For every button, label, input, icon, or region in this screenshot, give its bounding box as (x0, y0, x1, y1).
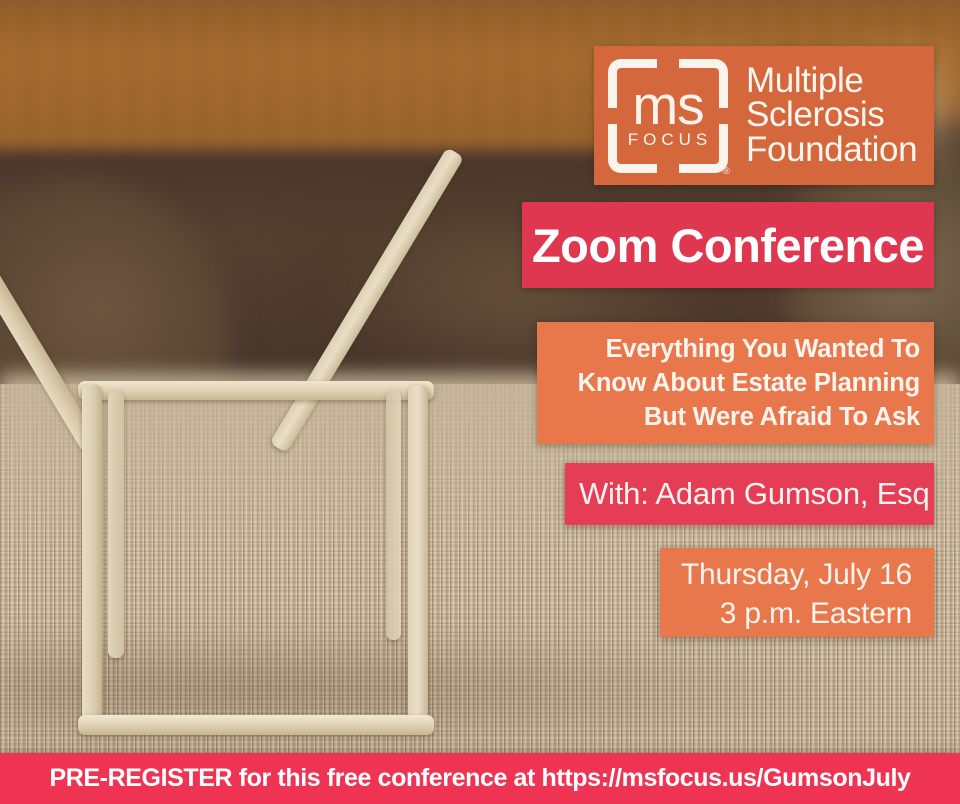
event-type-label: Zoom Conference (532, 218, 924, 273)
ms-focus-logo-block: ms FOCUS ® Multiple Sclerosis Foundation (594, 46, 934, 185)
roof-stick-right (269, 147, 464, 453)
ceiling-stick (78, 381, 434, 400)
organization-name-line2: Sclerosis (746, 98, 917, 133)
flyer-canvas: ms FOCUS ® Multiple Sclerosis Foundation… (0, 0, 960, 804)
floor-stick (78, 715, 434, 735)
logo-initials: ms (606, 78, 730, 133)
organization-name-line1: Multiple (746, 64, 917, 99)
registered-trademark-icon: ® (723, 166, 730, 177)
event-topic-line1: Everything You Wanted To (549, 332, 920, 366)
pre-register-bar[interactable]: PRE-REGISTER for this free conference at… (0, 753, 960, 804)
speaker-name: With: Adam Gumson, Esq (579, 476, 930, 512)
event-datetime-block: Thursday, July 16 3 p.m. Eastern (660, 548, 934, 637)
event-topic-line2: Know About Estate Planning (549, 366, 920, 400)
event-date: Thursday, July 16 (660, 555, 912, 594)
craft-stick-house (60, 85, 460, 735)
wall-stick-left-inner (108, 390, 124, 658)
event-time: 3 p.m. Eastern (660, 594, 912, 633)
event-topic-block: Everything You Wanted To Know About Esta… (537, 322, 934, 444)
wall-stick-right (408, 385, 428, 730)
event-type-banner: Zoom Conference (522, 202, 934, 288)
wall-stick-left (82, 385, 102, 730)
organization-name-line3: Foundation (746, 133, 917, 168)
speaker-block: With: Adam Gumson, Esq (565, 463, 934, 525)
organization-name: Multiple Sclerosis Foundation (746, 64, 917, 168)
logo-focus-word: FOCUS (606, 131, 730, 148)
wall-stick-right-inner (386, 390, 401, 640)
pre-register-text[interactable]: PRE-REGISTER for this free conference at… (49, 764, 910, 793)
ms-focus-logo-icon: ms FOCUS ® (606, 57, 730, 175)
event-topic-line3: But Were Afraid To Ask (549, 400, 920, 434)
